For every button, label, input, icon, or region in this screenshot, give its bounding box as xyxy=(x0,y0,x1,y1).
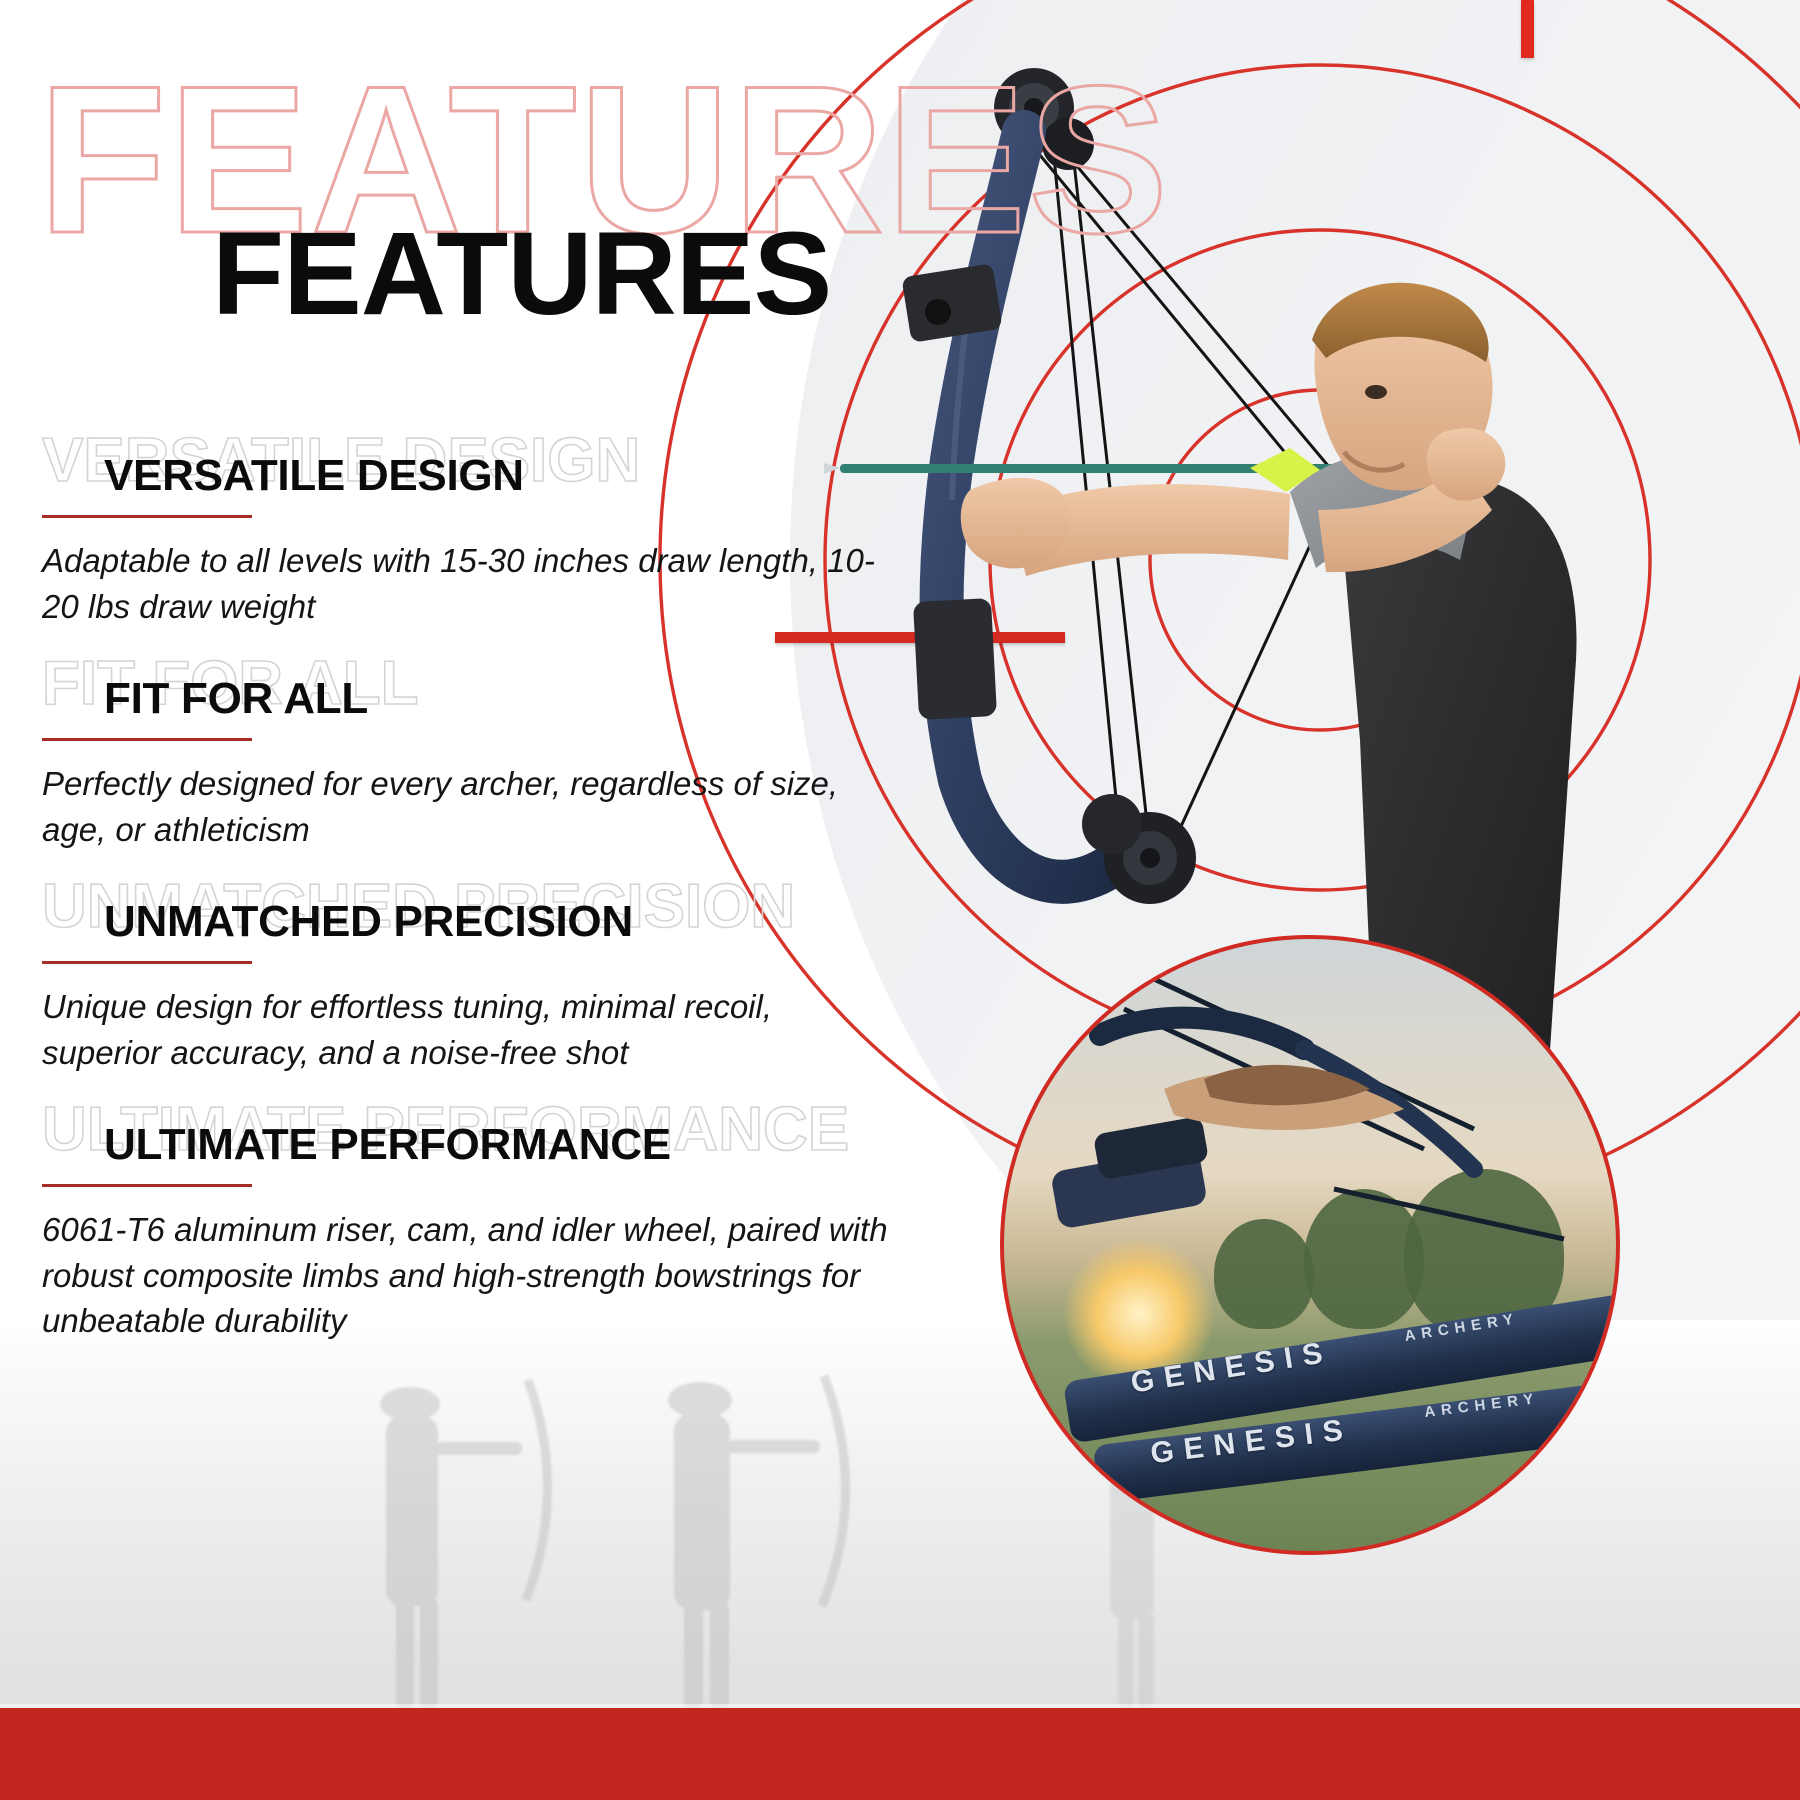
feature-heading: VERSATILE DESIGN xyxy=(104,454,524,498)
feature-heading-wrap: UNMATCHED PRECISION UNMATCHED PRECISION xyxy=(0,876,920,962)
feature-heading: ULTIMATE PERFORMANCE xyxy=(104,1123,671,1167)
feature-body: Unique design for effortless tuning, min… xyxy=(42,984,832,1075)
feature-body: 6061-T6 aluminum riser, cam, and idler w… xyxy=(42,1207,904,1344)
feature-item-fit-for-all: FIT FOR ALL FIT FOR ALL Perfectly design… xyxy=(0,653,920,852)
feature-item-ultimate-performance: ULTIMATE PERFORMANCE ULTIMATE PERFORMANC… xyxy=(0,1099,920,1344)
feature-underline xyxy=(42,738,252,741)
feature-body: Perfectly designed for every archer, reg… xyxy=(42,761,902,852)
poster-stage: GENESIS ARCHERY GENESIS ARCHERY FEATURES… xyxy=(0,0,1800,1800)
feature-heading-wrap: VERSATILE DESIGN VERSATILE DESIGN xyxy=(0,430,920,516)
feature-item-unmatched-precision: UNMATCHED PRECISION UNMATCHED PRECISION … xyxy=(0,876,920,1075)
feature-underline xyxy=(42,961,252,964)
feature-list: VERSATILE DESIGN VERSATILE DESIGN Adapta… xyxy=(0,430,920,1368)
feature-heading: FIT FOR ALL xyxy=(104,677,368,721)
page-title: FEATURES FEATURES xyxy=(0,55,1200,305)
page-title-solid: FEATURES xyxy=(212,215,831,333)
bottom-red-band xyxy=(0,1708,1800,1800)
feature-item-versatile-design: VERSATILE DESIGN VERSATILE DESIGN Adapta… xyxy=(0,430,920,629)
feature-body: Adaptable to all levels with 15-30 inche… xyxy=(42,538,902,629)
bow-detail-inset: GENESIS ARCHERY GENESIS ARCHERY xyxy=(1000,935,1620,1555)
feature-heading-wrap: ULTIMATE PERFORMANCE ULTIMATE PERFORMANC… xyxy=(0,1099,920,1185)
feature-underline xyxy=(42,515,252,518)
feature-heading: UNMATCHED PRECISION xyxy=(104,900,633,944)
feature-heading-wrap: FIT FOR ALL FIT FOR ALL xyxy=(0,653,920,739)
feature-underline xyxy=(42,1184,252,1187)
